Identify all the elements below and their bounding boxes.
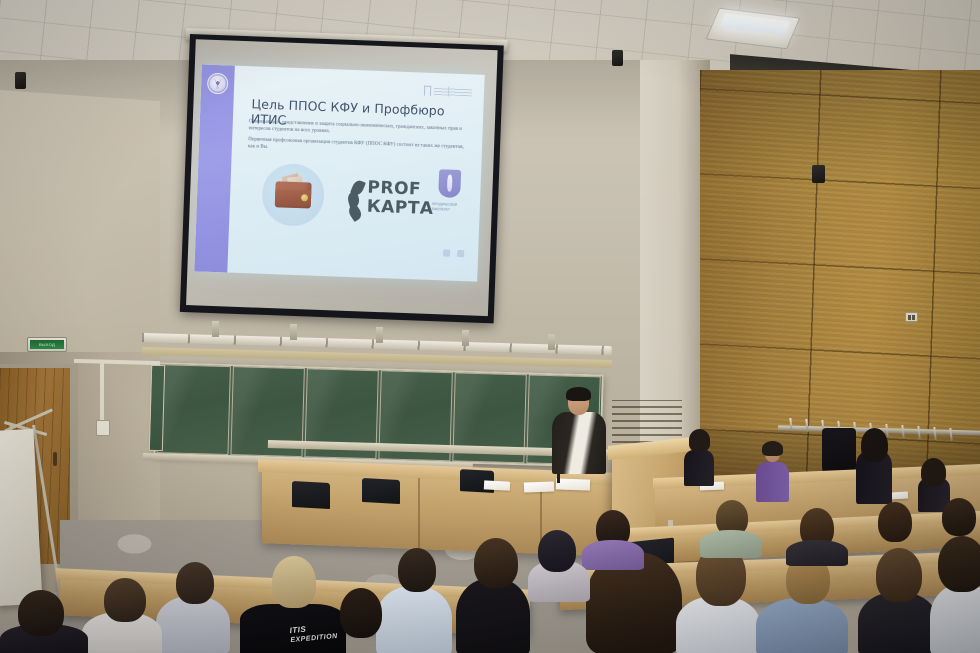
audience-head-blond: [272, 556, 316, 608]
audience-head: [18, 590, 64, 636]
audience-head: [876, 548, 922, 602]
projector-mount: [212, 321, 219, 337]
audience-head: [538, 530, 576, 572]
panelist-standing-right-hair: [861, 428, 888, 462]
panelist-seated-left-hair: [689, 429, 710, 451]
presentation-slide: Цель ППОС КФУ и Профбюро ИТИС Основная ц…: [194, 64, 484, 281]
projection-screen[interactable]: Цель ППОС КФУ и Профбюро ИТИС Основная ц…: [180, 34, 504, 323]
audience-member: [156, 596, 230, 653]
audience-member: [786, 540, 848, 566]
prof-line-2: КАРТА: [366, 198, 433, 219]
left-wall-upper: [0, 90, 160, 369]
crest-shield-icon: [438, 169, 461, 198]
audience-member: [582, 540, 644, 570]
papers-on-desk: [484, 480, 510, 490]
projector-mount: [462, 330, 469, 346]
screen-surface: Цель ППОС КФУ и Профбюро ИТИС Основная ц…: [186, 39, 498, 316]
slide-social-icons: [443, 249, 464, 257]
panelist-far-right-hair: [921, 458, 946, 486]
projector-mount: [376, 327, 383, 343]
presenter-at-podium: [552, 412, 606, 474]
audience-head: [398, 548, 436, 592]
audience-head: [104, 578, 146, 622]
conduit-pipe-drop: [100, 362, 104, 422]
exit-sign: ВЫХОД: [27, 337, 67, 352]
wall-speaker: [812, 165, 825, 183]
chair[interactable]: [292, 481, 330, 509]
exit-sign-label: ВЫХОД: [30, 340, 64, 349]
crest-caption: ЮРИДИЧЕСКИЙ ФАКУЛЬТЕТ: [432, 202, 466, 213]
papers-on-desk: [524, 481, 554, 492]
slide-body: Цель ППОС КФУ и Профбюро ИТИС Основная ц…: [227, 66, 484, 282]
audience-head: [942, 498, 976, 536]
audience-member: [756, 598, 848, 653]
audience-head: [176, 562, 214, 604]
panelist-seated-center-hair: [762, 441, 783, 456]
wall-speaker: [15, 72, 26, 89]
wheat-leaf-icon: [347, 180, 364, 221]
hoodie-text: ITIS EXPEDITION: [289, 622, 338, 646]
kfu-wordmark-logo: [424, 86, 474, 99]
papers-on-desk: [556, 478, 590, 490]
telegram-icon: [457, 250, 464, 257]
logo-mark-icon: [424, 86, 431, 96]
panelist-seated-center: [756, 462, 789, 502]
papers-on-table: [890, 492, 908, 500]
chair[interactable]: [362, 478, 400, 504]
panelist-seated-left: [684, 450, 714, 486]
audience-member: [930, 584, 980, 653]
chalkboard-panel: [156, 364, 230, 455]
wallet-icon: [261, 163, 325, 227]
audience-head: [878, 502, 912, 542]
juridical-faculty-crest: ЮРИДИЧЕСКИЙ ФАКУЛЬТЕТ: [432, 169, 468, 213]
vk-icon: [443, 249, 450, 256]
logo-wordmark: [434, 87, 472, 96]
audience-member: [456, 578, 530, 653]
presenter-hair: [566, 387, 591, 401]
audience-member: [376, 586, 452, 653]
projector-mount: [290, 324, 297, 340]
audience-head: [340, 588, 382, 638]
light-switch[interactable]: [96, 420, 110, 436]
audience-head: [938, 536, 980, 592]
audience-member: [700, 530, 762, 558]
chalkboard-left-fragment: [149, 365, 165, 451]
audience-head: [474, 538, 518, 588]
lecture-hall-photo: Цель ППОС КФУ и Профбюро ИТИС Основная ц…: [0, 0, 980, 653]
prof-karta-text: PROF КАРТА: [366, 179, 434, 219]
kfu-university-emblem: [207, 73, 229, 95]
power-outlet[interactable]: [905, 312, 918, 322]
projector-mount: [548, 334, 555, 350]
desk-seam: [418, 478, 420, 548]
wall-speaker: [612, 50, 623, 66]
